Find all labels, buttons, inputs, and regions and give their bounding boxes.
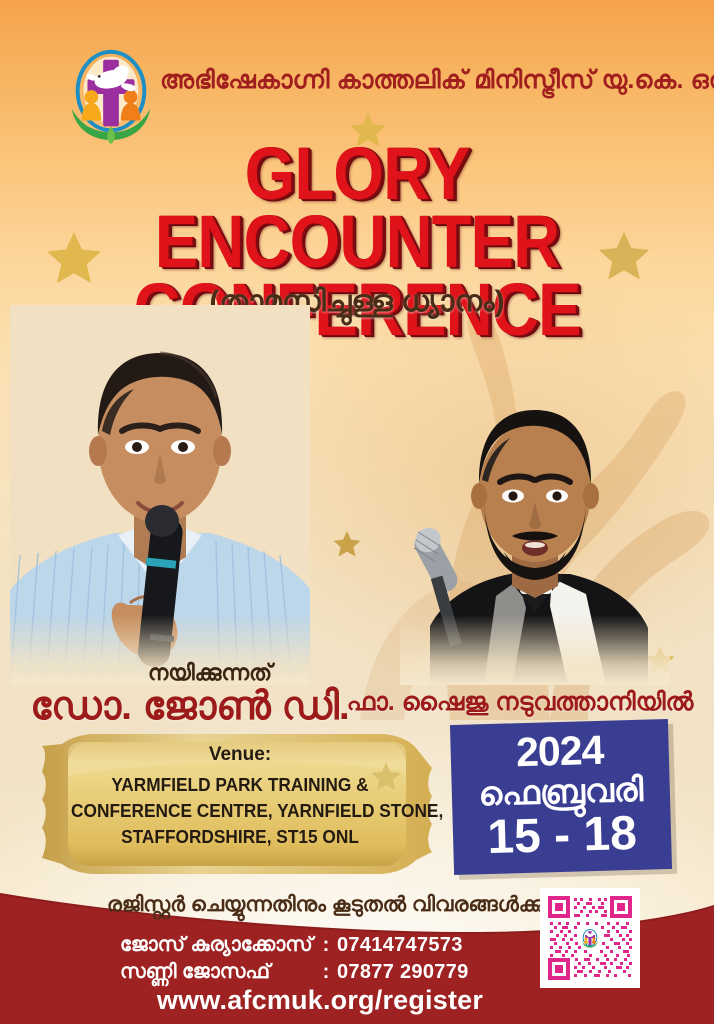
- venue-line-1: YARMFIELD PARK TRAINING &: [71, 772, 409, 798]
- event-month: ഫെബ്രുവരി: [451, 771, 670, 813]
- venue-line-3: STAFFORDSHIRE, ST15 ONL: [71, 824, 409, 850]
- star-icon-middle: [332, 529, 362, 559]
- lead-label: നയിക്കുന്നത്: [60, 660, 360, 686]
- registration-website-link[interactable]: www.afcmuk.org/register: [120, 985, 520, 1016]
- contact-list: ജോസ് കുര്യാക്കോസ് : 07414747573 സണ്ണി ജോ…: [120, 932, 520, 986]
- event-date-box: 2024 ഫെബ്രുവരി 15 - 18: [450, 719, 672, 875]
- organization-line: അഭിഷേകാഗ്നി കാത്തലിക് മിനിസ്ട്രീസ് യു.കെ…: [160, 66, 690, 95]
- event-year: 2024: [450, 728, 669, 775]
- registration-qr-code[interactable]: [540, 888, 640, 988]
- contact-phone-2[interactable]: 07877 290779: [337, 959, 469, 986]
- speaker-name-primary: ഡോ. ജോൺ ഡി.: [20, 685, 360, 729]
- event-days: 15 - 18: [452, 809, 671, 863]
- venue-text-block: Venue: YARMFIELD PARK TRAINING & CONFERE…: [64, 744, 416, 850]
- contact-phone-1[interactable]: 07414747573: [337, 932, 463, 959]
- speaker-name-secondary: ഫാ. ഷൈജു നടുവത്താനിയിൽ: [345, 688, 695, 717]
- ministry-logo-icon: [62, 44, 160, 144]
- speaker-photo-left: [10, 305, 310, 685]
- poster-root: അഭിഷേകാഗ്നി കാത്തലിക് മിനിസ്ട്രീസ് യു.കെ…: [0, 0, 714, 1024]
- title-line-1: GLORY ENCOUNTER: [43, 140, 671, 276]
- photo-fade-right: [400, 615, 670, 685]
- contact-separator-1: :: [315, 932, 337, 959]
- contact-row-2: സണ്ണി ജോസഫ് : 07877 290779: [120, 959, 520, 986]
- contact-name-1: ജോസ് കുര്യാക്കോസ്: [120, 932, 315, 959]
- speaker-photo-right: [400, 380, 670, 685]
- venue-label: Venue:: [64, 744, 416, 766]
- contact-separator-2: :: [315, 959, 337, 986]
- contact-row-1: ജോസ് കുര്യാക്കോസ് : 07414747573: [120, 932, 520, 959]
- venue-line-2: CONFERENCE CENTRE, YARNFIELD STONE,: [71, 798, 409, 824]
- contact-name-2: സണ്ണി ജോസഫ്: [120, 959, 315, 986]
- venue-ribbon: Venue: YARMFIELD PARK TRAINING & CONFERE…: [42, 732, 432, 874]
